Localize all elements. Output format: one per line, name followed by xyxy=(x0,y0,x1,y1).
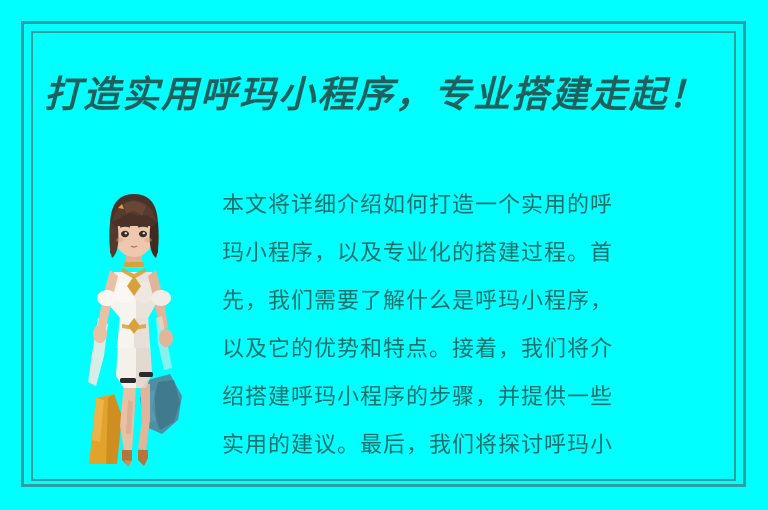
body-line: 先，我们需要了解什么是呼玛小程序， xyxy=(222,278,708,326)
body-line: 本文将详细介绍如何打造一个实用的呼 xyxy=(222,182,708,230)
body-line: 以及它的优势和特点。接着，我们将介 xyxy=(222,326,708,374)
anime-woman-illustration xyxy=(62,168,208,470)
page-title: 打造实用呼玛小程序，专业搭建走起！ xyxy=(44,58,734,124)
body-line: 绍搭建呼玛小程序的步骤，并提供一些 xyxy=(222,374,708,422)
body-text: 本文将详细介绍如何打造一个实用的呼 玛小程序，以及专业化的搭建过程。首 先，我们… xyxy=(222,182,708,472)
body-line: 实用的建议。最后，我们将探讨呼玛小 xyxy=(222,422,708,470)
body-line: 玛小程序，以及专业化的搭建过程。首 xyxy=(222,230,708,278)
poster-canvas: 打造实用呼玛小程序，专业搭建走起！ xyxy=(0,0,768,510)
